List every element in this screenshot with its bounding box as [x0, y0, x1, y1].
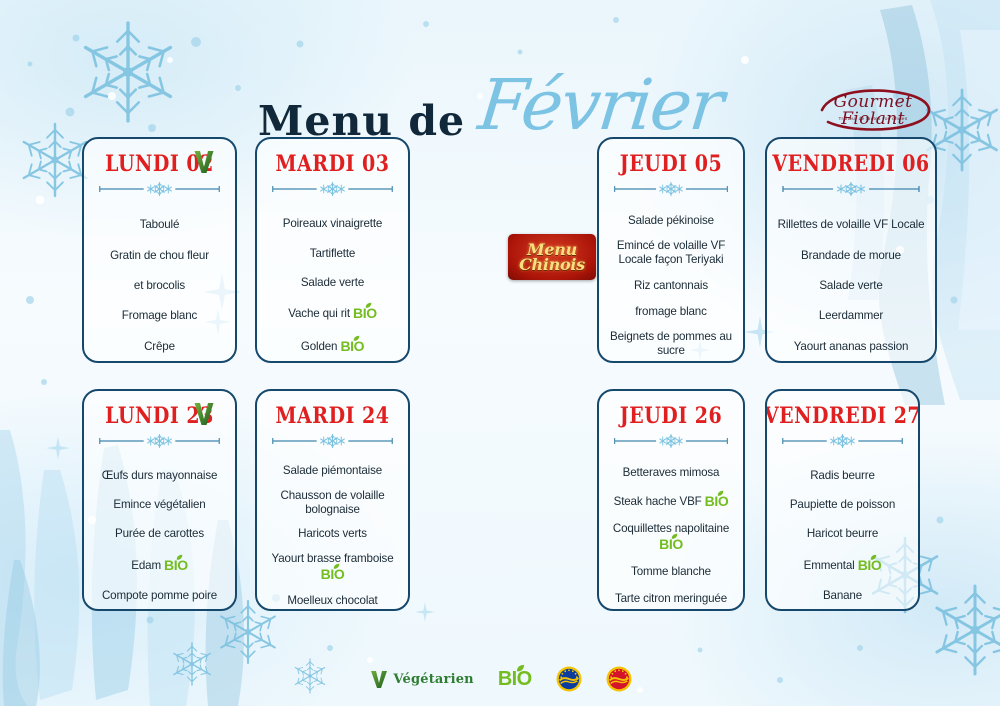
menu-item: Purée de carottes [92, 527, 227, 541]
menu-item-list: Œufs durs mayonnaiseEmince végétalienPur… [92, 456, 227, 611]
menu-item-text: Salade piémontaise [283, 464, 382, 477]
bio-badge: BIO [321, 566, 345, 583]
vegetarian-badge [193, 401, 215, 427]
vegetarian-v-icon [193, 401, 215, 427]
aop-seal-icon [556, 666, 582, 692]
menu-chinois-line2: Chinois [519, 257, 585, 272]
snowflake-divider-icon [271, 434, 394, 448]
menu-item-text: Radis beurre [810, 469, 875, 482]
menu-item-text: Beignets de pommes au sucre [610, 330, 732, 357]
menu-item-text: Emince végétalien [113, 498, 205, 511]
poster-header: Menu de Février Gourmet Fiolant Traiteur… [0, 28, 1000, 128]
vegetarian-badge [193, 149, 215, 175]
menu-item-text: Yaourt ananas passion [794, 340, 909, 353]
menu-item: Salade pékinoise [607, 214, 735, 228]
menu-card: VENDREDI 27 Radis beurrePaupiette de poi… [765, 389, 920, 611]
bio-leaf-icon [516, 664, 525, 673]
menu-item-text: Salade pékinoise [628, 214, 714, 227]
menu-item-text: Taboulé [140, 218, 180, 231]
bio-badge: BIO [353, 305, 377, 322]
card-divider [613, 434, 729, 448]
bio-leaf-icon [353, 335, 360, 342]
bio-leaf-icon [671, 533, 678, 540]
menu-item: Leerdammer [775, 309, 927, 323]
card-divider [271, 434, 394, 448]
menu-item: Chausson de volaille bolognaise [265, 489, 400, 517]
menu-item-text: Emmental [804, 559, 855, 572]
menu-card: VENDREDI 06 Rillettes de volaille VF Loc… [765, 137, 937, 363]
menu-item: Coquillettes napolitaine BIO [607, 522, 735, 553]
menu-item: Œufs durs mayonnaise [92, 469, 227, 483]
menu-item-text: Rillettes de volaille VF Locale [778, 218, 925, 231]
snowflake-divider-icon [98, 182, 221, 196]
menu-item: Edam BIO [92, 557, 227, 574]
menu-item-text: Betteraves mimosa [623, 466, 720, 479]
menu-item-text: Leerdammer [819, 309, 883, 322]
menu-item-text: Chausson de volaille bolognaise [281, 489, 385, 516]
menu-item-text: et brocolis [134, 279, 185, 292]
menu-item-list: Salade pékinoiseEmincé de volaille VF Lo… [607, 204, 735, 363]
igp-seal-icon [606, 666, 632, 692]
menu-item-text: Banane [823, 589, 862, 602]
bio-leaf-icon [717, 490, 724, 497]
bio-badge: BIO [705, 493, 729, 510]
legend-vegetarian: Végétarien [368, 668, 473, 690]
bio-badge: BIO [340, 338, 364, 355]
menu-item: fromage blanc [607, 305, 735, 319]
menu-item-text: Tarte citron meringuée [615, 592, 727, 605]
menu-item: Fromage blanc [92, 309, 227, 323]
card-header: JEUDI 26 [607, 401, 735, 431]
menu-item: Betteraves mimosa [607, 466, 735, 480]
menu-card: LUNDI 02 TabouléGratin de chou fleuret [82, 137, 237, 363]
menu-item: Radis beurre [775, 469, 910, 483]
menu-item: Steak hache VBF BIO [607, 493, 735, 510]
menu-item: Crêpe [92, 340, 227, 354]
day-title: VENDREDI 06 [772, 151, 929, 177]
bio-badge: BIO [858, 557, 882, 574]
menu-item: Salade verte [775, 279, 927, 293]
menu-item-list: Salade piémontaiseChausson de volaille b… [265, 456, 400, 611]
day-title: MARDI 03 [276, 151, 390, 177]
menu-item: Compote pomme poire [92, 589, 227, 603]
menu-item-text: Haricots verts [298, 527, 367, 540]
card-header: LUNDI 23 [92, 401, 227, 431]
card-header: JEUDI 05 [607, 149, 735, 179]
menu-item: Haricots verts [265, 527, 400, 541]
bio-leaf-icon [333, 563, 340, 570]
menu-item-text: Compote pomme poire [102, 589, 217, 602]
menu-item: Yaourt brasse framboise BIO [265, 552, 400, 583]
menu-item: Haricot beurre [775, 527, 910, 541]
menu-item-text: Edam [131, 559, 161, 572]
legend-bio-text: BIO [498, 668, 532, 690]
vegetarian-v-icon [368, 668, 390, 690]
menu-item-text: Poireaux vinaigrette [283, 217, 382, 230]
menu-item: Brandade de morue [775, 249, 927, 263]
menu-item-text: Œufs durs mayonnaise [102, 469, 218, 482]
day-title: VENDREDI 27 [765, 403, 920, 429]
legend-aop-seal [556, 666, 582, 692]
menu-item: Yaourt ananas passion [775, 340, 927, 354]
legend-igp-seal [606, 666, 632, 692]
bio-badge: BIO [659, 536, 683, 553]
menu-item: Tarte citron meringuée [607, 592, 735, 606]
menu-item-text: Emincé de volaille VF Locale façon Teriy… [617, 239, 725, 266]
menu-card: MARDI 03 Poireaux vinaigretteTartiflette… [255, 137, 410, 363]
menu-item-text: Haricot beurre [807, 527, 878, 540]
menu-item-text: Steak hache VBF [614, 495, 702, 508]
menu-item-text: fromage blanc [635, 305, 707, 318]
page-title: Menu de Février [258, 80, 722, 145]
menu-card: MARDI 24 Salade piémontaiseChausson de v… [255, 389, 410, 611]
menu-poster: Menu de Février Gourmet Fiolant Traiteur… [0, 0, 1000, 706]
card-header: LUNDI 02 [92, 149, 227, 179]
menu-item-text: Salade verte [301, 276, 364, 289]
menu-item: Moelleux chocolat [265, 594, 400, 608]
day-title: MARDI 24 [276, 403, 390, 429]
menu-item: Paupiette de poisson [775, 498, 910, 512]
menu-item: Rillettes de volaille VF Locale [775, 218, 927, 232]
menu-item-list: Radis beurrePaupiette de poissonHaricot … [775, 456, 910, 611]
menu-card: JEUDI 05 Salade pékinoiseEmincé de volai… [597, 137, 745, 363]
menu-item-text: Gratin de chou fleur [110, 249, 209, 262]
menu-item-list: TabouléGratin de chou fleuret brocolisFr… [92, 204, 227, 363]
card-header: VENDREDI 27 [775, 401, 910, 431]
menu-item-text: Brandade de morue [801, 249, 901, 262]
menu-item-text: Tomme blanche [631, 565, 711, 578]
logo-tagline: Traiteur de toutes vos envies [808, 116, 938, 121]
title-month: Février [476, 74, 725, 137]
snowflake-divider-icon [98, 434, 221, 448]
menu-item-text: Vache qui rit [288, 307, 350, 320]
day-title: JEUDI 26 [620, 403, 722, 429]
menu-item: Vache qui rit BIO [265, 305, 400, 322]
vegetarian-v-icon [193, 149, 215, 175]
menu-item: Salade verte [265, 276, 400, 290]
card-divider [98, 182, 221, 196]
bio-leaf-icon [176, 554, 183, 561]
menu-item-text: Paupiette de poisson [790, 498, 895, 511]
bio-leaf-icon [870, 554, 877, 561]
bio-leaf-icon [365, 302, 372, 309]
menu-item: Riz cantonnais [607, 279, 735, 293]
menu-item-list: Betteraves mimosaSteak hache VBF BIOCoqu… [607, 456, 735, 611]
card-header: VENDREDI 06 [775, 149, 927, 179]
menu-item: Gratin de chou fleur [92, 249, 227, 263]
brand-logo: Gourmet Fiolant Traiteur de toutes vos e… [808, 80, 938, 138]
day-title: JEUDI 05 [620, 151, 722, 177]
menu-card: LUNDI 23 Œufs durs mayonnaiseEmince vég [82, 389, 237, 611]
menu-item-text: Crêpe [144, 340, 175, 353]
card-divider [781, 182, 921, 196]
menu-item-text: Fromage blanc [122, 309, 197, 322]
menu-item: Salade piémontaise [265, 464, 400, 478]
menu-item-text: Purée de carottes [115, 527, 204, 540]
menu-item: Tomme blanche [607, 565, 735, 579]
menu-item: Taboulé [92, 218, 227, 232]
menu-item: Emince végétalien [92, 498, 227, 512]
legend: Végétarien BIO [0, 666, 1000, 692]
menu-item-list: Rillettes de volaille VF LocaleBrandade … [775, 204, 927, 363]
menu-item-text: Tartiflette [310, 247, 355, 260]
menu-item-text: Riz cantonnais [634, 279, 708, 292]
legend-bio: BIO [498, 668, 532, 691]
menu-item: Banane [775, 589, 910, 603]
snowflake-divider-icon [613, 182, 729, 196]
legend-bio-label: BIO [498, 668, 532, 691]
logo-name: Gourmet Fiolant [808, 94, 938, 128]
card-divider [98, 434, 221, 448]
menu-item: Emmental BIO [775, 557, 910, 574]
menu-item-text: Moelleux chocolat [287, 594, 377, 607]
menu-card: JEUDI 26 Betteraves mimosaSteak hache VB… [597, 389, 745, 611]
card-header: MARDI 24 [265, 401, 400, 431]
menu-item: Tartiflette [265, 247, 400, 261]
bio-badge: BIO [164, 557, 188, 574]
card-divider [613, 182, 729, 196]
menu-item-list: Poireaux vinaigretteTartifletteSalade ve… [265, 204, 400, 363]
menu-item: Beignets de pommes au sucre [607, 330, 735, 358]
snowflake-divider-icon [271, 182, 394, 196]
card-header: MARDI 03 [265, 149, 400, 179]
menu-item-text: Golden [301, 340, 338, 353]
legend-vegetarian-label: Végétarien [393, 672, 473, 687]
menu-item: et brocolis [92, 279, 227, 293]
menu-chinois-badge: Menu Chinois [508, 234, 596, 280]
menu-item: Poireaux vinaigrette [265, 217, 400, 231]
card-divider [271, 182, 394, 196]
snowflake-divider-icon [613, 434, 729, 448]
menu-item: Emincé de volaille VF Locale façon Teriy… [607, 239, 735, 267]
snowflake-divider-icon [781, 182, 921, 196]
snowflake-divider-icon [781, 434, 904, 448]
card-divider [781, 434, 904, 448]
menu-item: Golden BIO [265, 338, 400, 355]
menu-item-text: Salade verte [819, 279, 882, 292]
